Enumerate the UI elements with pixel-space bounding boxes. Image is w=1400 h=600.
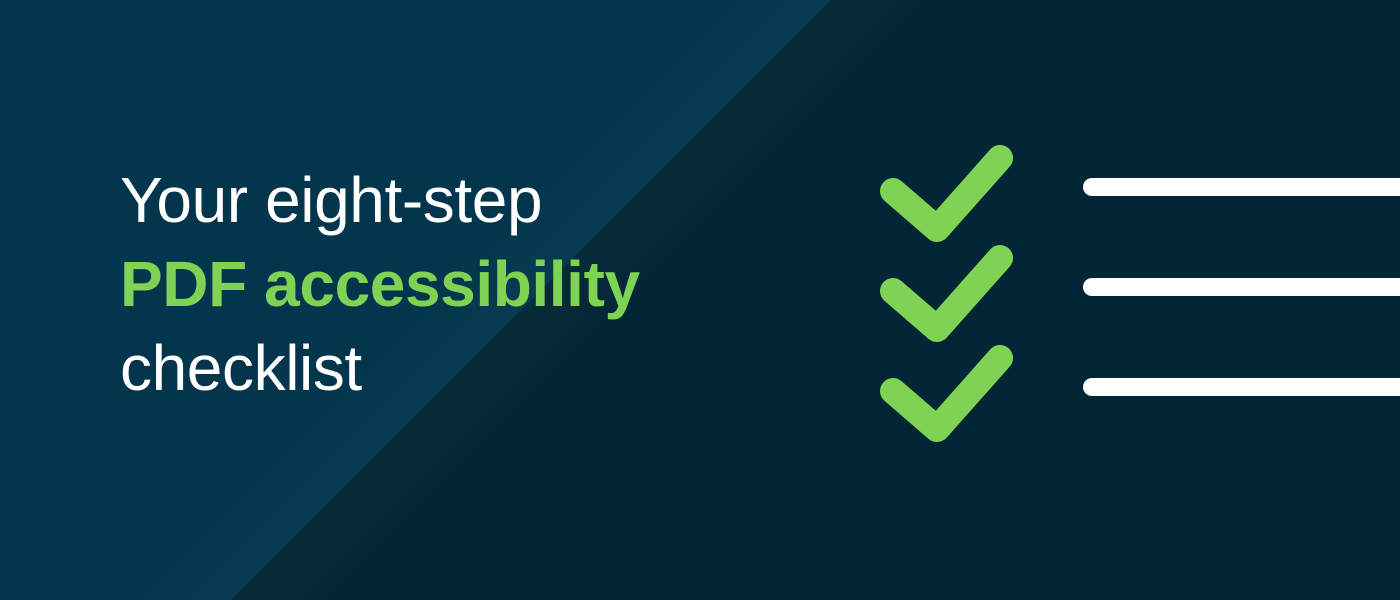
checklist-row-2 [893, 258, 1400, 329]
headline: Your eight-step PDF accessibility checkl… [120, 158, 640, 410]
list-line-bar-1 [1083, 178, 1400, 196]
checkmark-icon-1 [893, 158, 1000, 229]
checklist-row-3 [893, 358, 1400, 429]
checkmark-icon-3 [893, 358, 1000, 429]
headline-line-1: Your eight-step [120, 158, 640, 242]
headline-line-3: checklist [120, 326, 640, 410]
checklist-row-1 [893, 158, 1400, 229]
promo-banner: Your eight-step PDF accessibility checkl… [0, 0, 1400, 600]
checkmark-icon-2 [893, 258, 1000, 329]
headline-line-2: PDF accessibility [120, 242, 640, 326]
list-line-bar-3 [1083, 378, 1400, 396]
list-line-bar-2 [1083, 278, 1400, 296]
checklist-illustration [860, 130, 1400, 460]
